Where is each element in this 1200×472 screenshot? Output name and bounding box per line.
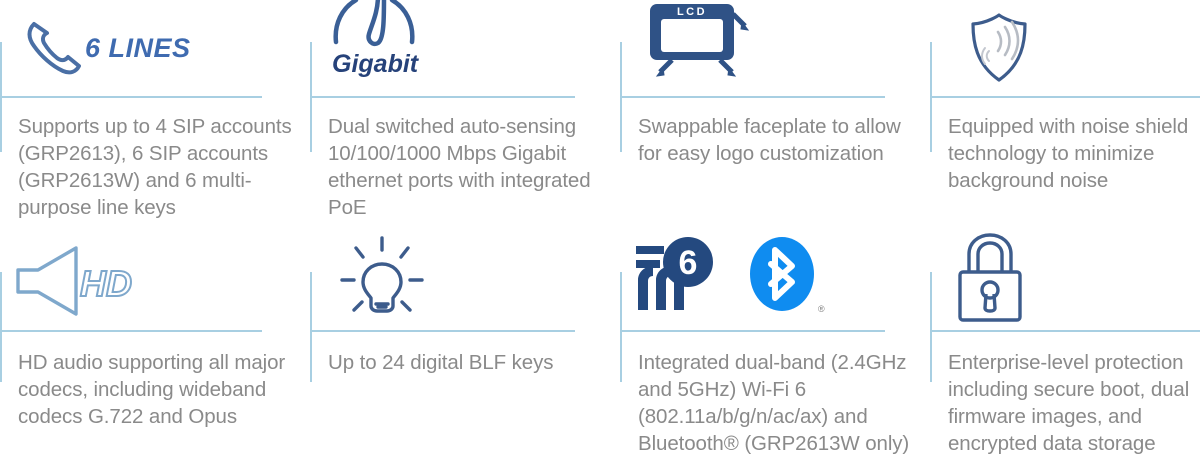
cell-horizontal-divider xyxy=(310,96,575,98)
phone-handset-6-lines-icon: 6 LINES xyxy=(24,16,191,78)
cell-horizontal-divider xyxy=(930,330,1200,332)
feature-description-faceplate: Swappable faceplate to allow for easy lo… xyxy=(638,113,903,167)
gigabit-icon-label: Gigabit xyxy=(332,50,420,79)
feature-cell-faceplate: LCD Swappable faceplate to allow for eas… xyxy=(620,0,920,236)
svg-text:HD: HD xyxy=(80,263,132,304)
cell-vertical-divider xyxy=(930,272,932,382)
feature-description-six-lines: Supports up to 4 SIP accounts (GRP2613),… xyxy=(18,113,300,221)
feature-cell-six-lines: 6 LINES Supports up to 4 SIP accounts (G… xyxy=(0,0,300,236)
feature-description-wifi-bluetooth: Integrated dual-band (2.4GHz and 5GHz) W… xyxy=(638,349,910,457)
cell-horizontal-divider xyxy=(0,330,262,332)
feature-cell-hd-audio: HD HD audio supporting all major codecs,… xyxy=(0,236,300,472)
padlock-icon xyxy=(952,232,1028,326)
feature-cell-blf-keys: Up to 24 digital BLF keys xyxy=(310,236,610,472)
feature-cell-gigabit: Gigabit Dual switched auto-sensing 10/10… xyxy=(310,0,610,236)
feature-description-noise-shield: Equipped with noise shield technology to… xyxy=(948,113,1200,194)
wifi6-number-label: 6 xyxy=(679,244,698,282)
cell-vertical-divider xyxy=(310,272,312,382)
six-lines-icon-label: 6 LINES xyxy=(85,33,191,64)
cell-horizontal-divider xyxy=(310,330,575,332)
feature-description-gigabit: Dual switched auto-sensing 10/100/1000 M… xyxy=(328,113,608,221)
svg-text:LCD: LCD xyxy=(677,6,707,18)
cell-vertical-divider xyxy=(0,272,2,382)
shield-noise-icon xyxy=(968,12,1030,84)
feature-cell-security: Enterprise-level protection including se… xyxy=(930,236,1200,472)
gigabit-icon: Gigabit xyxy=(328,0,420,79)
hd-speaker-icon: HD xyxy=(14,244,122,318)
cell-vertical-divider xyxy=(620,272,622,382)
cell-horizontal-divider xyxy=(930,96,1200,98)
cell-horizontal-divider xyxy=(0,96,262,98)
lcd-swappable-faceplate-icon: LCD xyxy=(638,2,748,84)
svg-text:®: ® xyxy=(818,304,825,314)
lightbulb-icon xyxy=(338,236,426,324)
feature-description-blf-keys: Up to 24 digital BLF keys xyxy=(328,349,608,376)
feature-description-security: Enterprise-level protection including se… xyxy=(948,349,1200,457)
feature-cell-noise-shield: Equipped with noise shield technology to… xyxy=(930,0,1200,236)
feature-description-hd-audio: HD audio supporting all major codecs, in… xyxy=(18,349,308,430)
cell-horizontal-divider xyxy=(620,330,885,332)
feature-cell-wifi-bluetooth: 6 ® Integrated dual-band (2.4GHz and 5GH… xyxy=(620,236,920,472)
wifi6-bluetooth-icon: 6 ® xyxy=(634,236,824,318)
feature-grid: 6 LINES Supports up to 4 SIP accounts (G… xyxy=(0,0,1200,472)
cell-horizontal-divider xyxy=(620,96,885,98)
